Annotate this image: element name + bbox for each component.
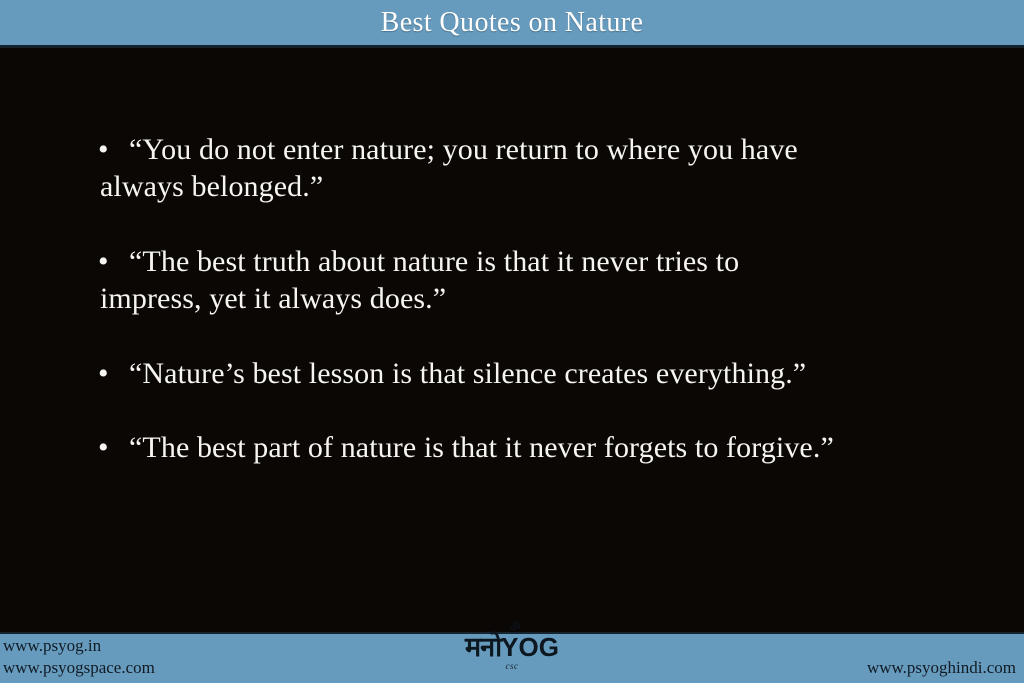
quote-text: “You do not enter nature; you return to … xyxy=(100,133,798,203)
bullet-icon: • xyxy=(99,433,129,463)
quote-poster: Best Quotes on Nature •“You do not enter… xyxy=(0,0,1024,683)
quote-text: “The best truth about nature is that it … xyxy=(100,245,739,315)
page-title: Best Quotes on Nature xyxy=(381,9,644,39)
bullet-icon: • xyxy=(99,247,129,277)
logo-wordmark: मनोYOG ॐ xyxy=(412,634,612,661)
list-item: •“The best truth about nature is that it… xyxy=(100,244,812,318)
devanagari-text: मनो xyxy=(465,634,501,661)
footer-left-urls: www.psyog.in www.psyogspace.com xyxy=(3,635,155,680)
list-item: •“You do not enter nature; you return to… xyxy=(100,132,842,206)
header-band: Best Quotes on Nature xyxy=(0,0,1024,48)
om-icon: ॐ xyxy=(510,621,521,633)
list-item: •“The best part of nature is that it nev… xyxy=(100,430,900,467)
bullet-icon: • xyxy=(99,135,129,165)
quotes-list: •“You do not enter nature; you return to… xyxy=(0,48,1024,632)
logo-latin-text: YOG xyxy=(501,634,559,660)
quote-text: “The best part of nature is that it neve… xyxy=(129,431,834,464)
website-link-psyoghindi[interactable]: www.psyoghindi.com xyxy=(867,658,1016,678)
bullet-icon: • xyxy=(99,359,129,389)
website-link-psyog[interactable]: www.psyog.in xyxy=(3,635,155,657)
website-link-psyogspace[interactable]: www.psyogspace.com xyxy=(3,657,155,679)
logo-subtitle: csc xyxy=(412,662,612,671)
list-item: •“Nature’s best lesson is that silence c… xyxy=(100,356,984,393)
quote-text: “Nature’s best lesson is that silence cr… xyxy=(129,357,806,390)
brand-logo: मनोYOG ॐ csc xyxy=(412,634,612,671)
footer-band: www.psyog.in www.psyogspace.com मनोYOG ॐ… xyxy=(0,632,1024,683)
